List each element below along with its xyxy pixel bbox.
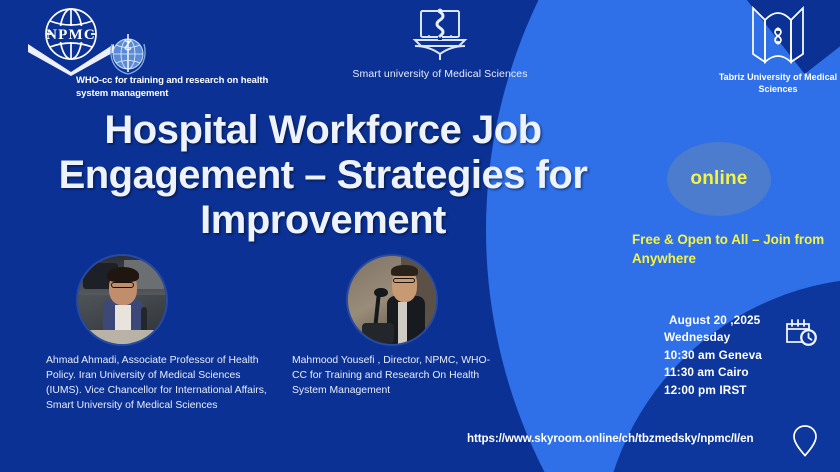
tabriz-university-logo-block: Tabriz University of Medical Sciences — [716, 4, 840, 95]
svg-text:NPMC: NPMC — [46, 27, 96, 43]
speaker-card-2: Mahmood Yousefi , Director, NPMC, WHO-CC… — [292, 256, 492, 398]
tabriz-book-dna-icon — [749, 4, 807, 66]
free-open-text: Free & Open to All – Join from Anywhere — [632, 230, 837, 269]
speaker-bio: Ahmad Ahmadi, Associate Professor of Hea… — [46, 353, 271, 413]
tabriz-university-caption: Tabriz University of Medical Sciences — [716, 71, 840, 95]
smart-university-caption: Smart university of Medical Sciences — [340, 68, 540, 80]
avatar — [348, 256, 436, 344]
location-pin-icon — [792, 424, 818, 458]
speaker-bio: Mahmood Yousefi , Director, NPMC, WHO-CC… — [292, 353, 492, 398]
schedule-date: August 20 ,2025 — [664, 312, 784, 329]
laptop-caduceus-book-icon — [407, 6, 473, 62]
schedule-time-cairo: 11:30 am Cairo — [664, 364, 784, 381]
schedule-weekday: Wednesday — [664, 329, 784, 346]
webinar-link[interactable]: https://www.skyroom.online/ch/tbzmedsky/… — [467, 432, 754, 445]
who-emblem-icon — [106, 32, 150, 76]
npmc-logo-block: NPMC WHO-cc f — [18, 6, 280, 98]
speaker-card-1: Ahmad Ahmadi, Associate Professor of Hea… — [46, 256, 271, 413]
schedule-block: August 20 ,2025 Wednesday 10:30 am Genev… — [664, 312, 784, 399]
avatar — [78, 256, 166, 344]
calendar-clock-icon — [784, 316, 818, 348]
webinar-poster: NPMC WHO-cc f — [0, 0, 840, 472]
smart-university-logo-block: Smart university of Medical Sciences — [340, 6, 540, 90]
npmc-caption: WHO-cc for training and research on heal… — [76, 75, 282, 101]
npmc-globe-book-icon: NPMC — [24, 6, 116, 76]
page-title: Hospital Workforce Job Engagement – Stra… — [28, 108, 618, 242]
online-badge: online — [667, 142, 771, 216]
schedule-time-geneva: 10:30 am Geneva — [664, 347, 784, 364]
online-badge-label: online — [690, 168, 747, 190]
schedule-time-irst: 12:00 pm IRST — [664, 382, 784, 399]
